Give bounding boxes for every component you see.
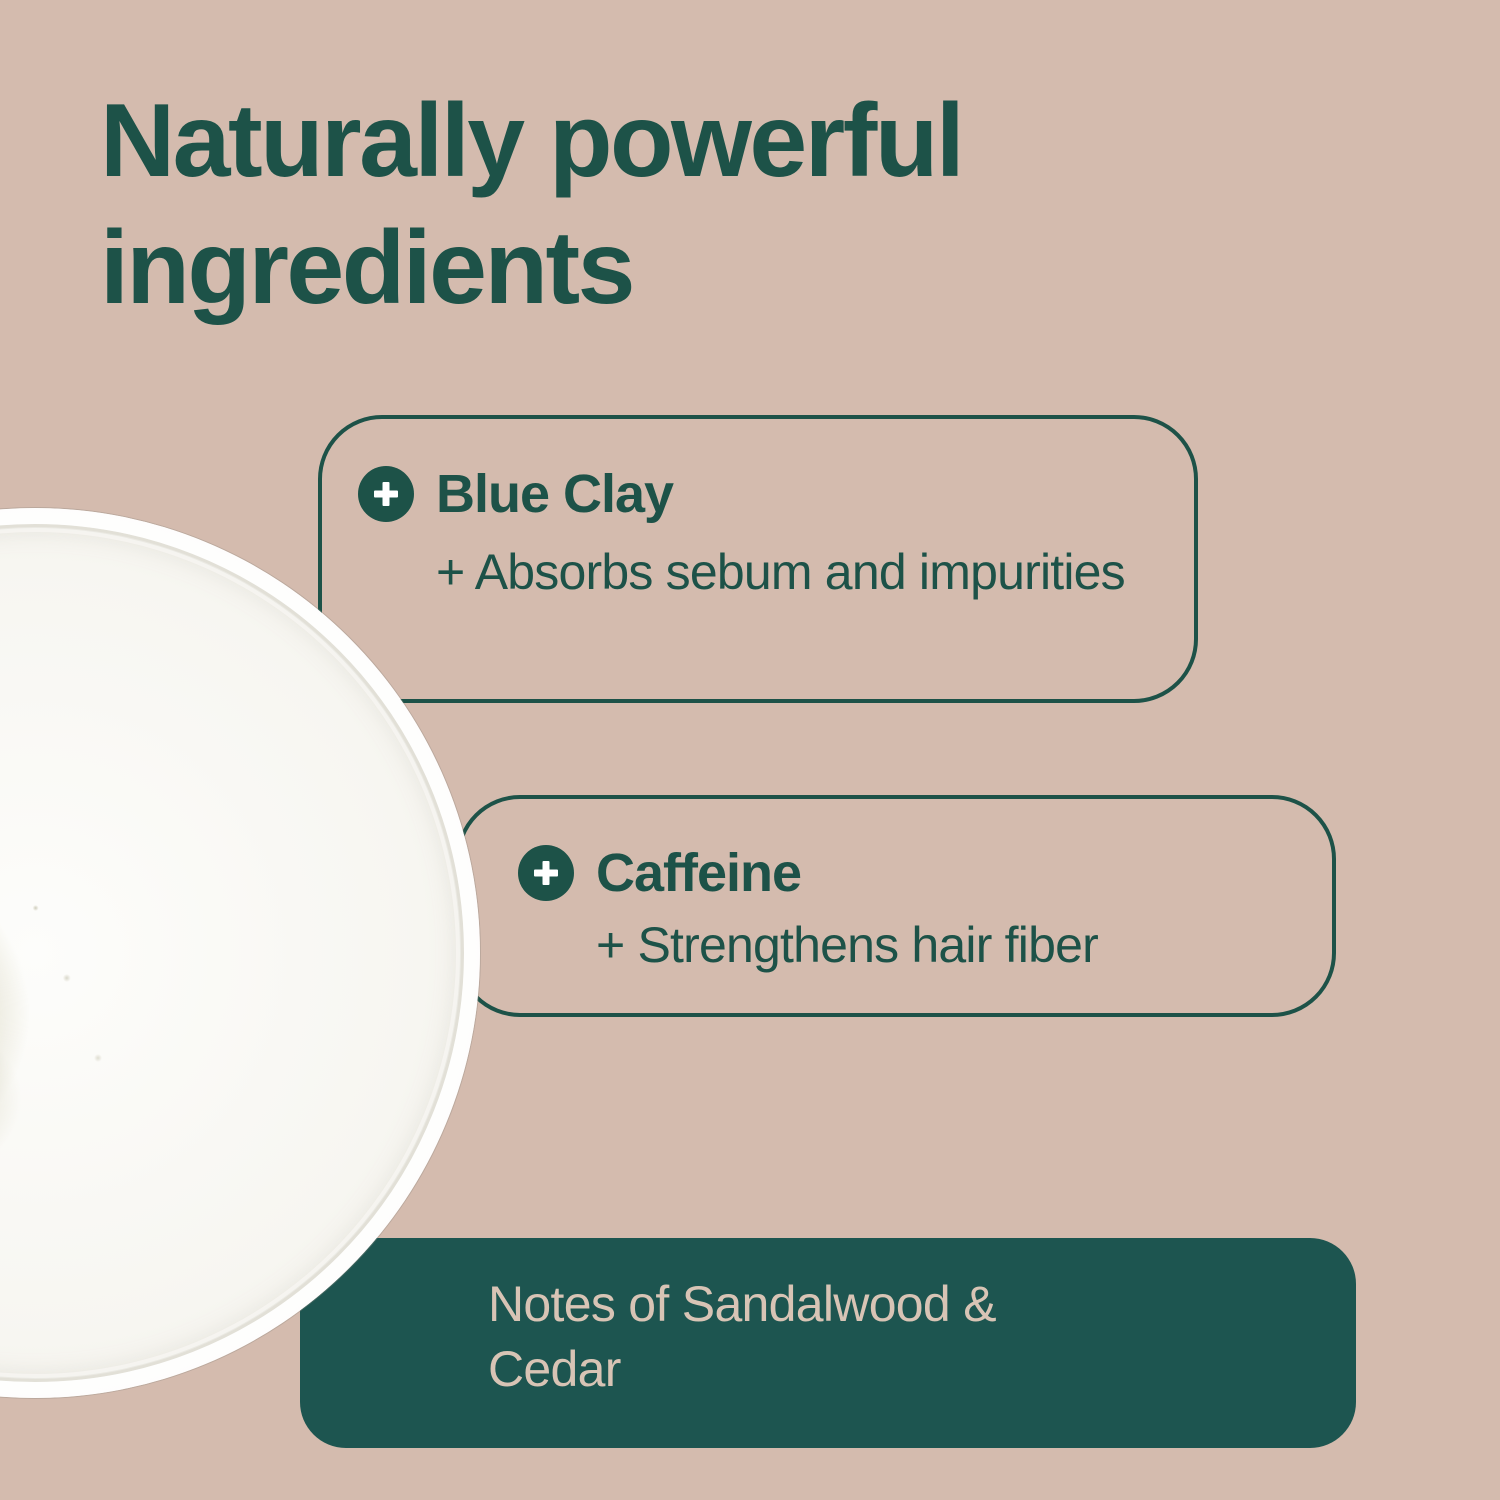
ingredient-content-caffeine: Caffeine + Strengthens hair fiber — [518, 845, 1318, 978]
scent-banner-text: Notes of Sandalwood & Cedar — [488, 1272, 1228, 1402]
plus-icon — [518, 845, 574, 901]
ingredient-content-blue-clay: Blue Clay + Absorbs sebum and impurities — [358, 466, 1148, 605]
plus-icon — [358, 466, 414, 522]
ingredient-title-row: Caffeine — [518, 845, 1318, 902]
ingredient-name: Blue Clay — [436, 466, 673, 523]
page-title: Naturally powerful ingredients — [100, 78, 1280, 332]
ingredient-title-row: Blue Clay — [358, 466, 1148, 523]
ingredient-benefit: + Strengthens hair fiber — [596, 912, 1318, 978]
infographic-canvas: Naturally powerful ingredients Blue Clay… — [0, 0, 1500, 1500]
ingredient-name: Caffeine — [596, 845, 801, 902]
clay-powder-specks — [0, 758, 150, 1258]
ingredient-benefit: + Absorbs sebum and impurities — [436, 539, 1148, 605]
